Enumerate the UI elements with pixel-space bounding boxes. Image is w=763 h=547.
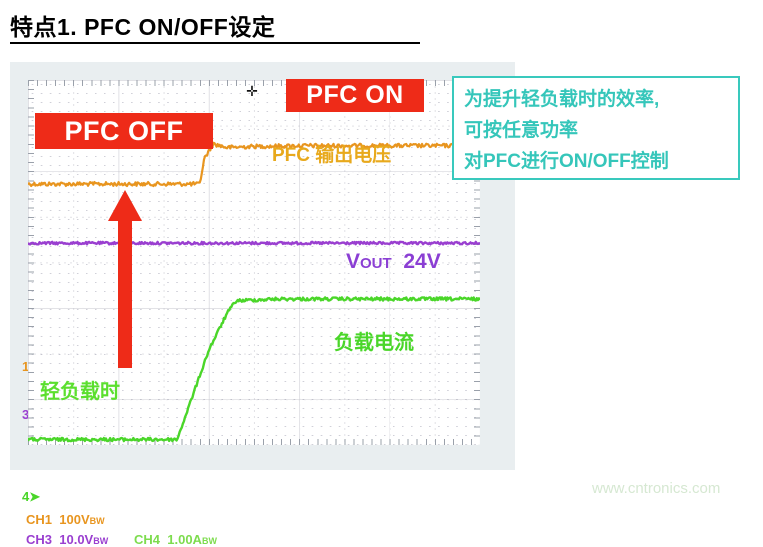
callout-line-2: 可按任意功率 (464, 115, 730, 146)
readout-ch4-scale: 1.00A (167, 532, 202, 547)
watermark: www.cntronics.com (592, 480, 720, 497)
channel-marker-ch4-arrow-icon: ➤ (29, 489, 40, 504)
page-title: 特点1. PFC ON/OFF设定 (10, 8, 430, 42)
badge-pfc-on: PFC ON (286, 79, 424, 112)
badge-pfc-off: PFC OFF (35, 113, 213, 149)
label-pfc-output-voltage: PFC 输出电压 (272, 140, 391, 167)
callout-box: 为提升轻负载时的效率, 可按任意功率 对PFC进行ON/OFF控制 (452, 76, 740, 180)
readout-ch3-bw: BW (93, 536, 108, 546)
readout-ch4-bw: BW (202, 536, 217, 546)
readout-ch1-scale: 100V (59, 512, 89, 527)
trigger-marker-icon: ✛ (246, 85, 258, 97)
label-vout-24v: VOUT 24V (346, 250, 441, 274)
title-underline (10, 42, 420, 44)
readout-ch1-name: CH1 (26, 512, 52, 527)
readout-ch4-name: CH4 (134, 532, 160, 547)
label-vout-value: 24V (403, 250, 440, 273)
label-vout-prefix: V (346, 250, 360, 273)
callout-line-1: 为提升轻负载时的效率, (464, 84, 730, 115)
readout-ch1-bw: BW (90, 516, 105, 526)
callout-line-3: 对PFC进行ON/OFF控制 (464, 146, 730, 177)
channel-marker-ch4: 4➤ (22, 490, 40, 503)
label-load-current: 负载电流 (334, 326, 414, 355)
readout-ch4: CH4 1.00ABW (134, 532, 217, 547)
readout-ch1: CH1 100VBW (26, 512, 105, 527)
readout-ch3-name: CH3 (26, 532, 52, 547)
callout-up-arrow-icon (105, 188, 145, 368)
graticule-ticks-left (28, 80, 34, 445)
readout-ch3: CH3 10.0VBW (26, 532, 108, 547)
readout-ch3-scale: 10.0V (59, 532, 93, 547)
label-vout-subscript: OUT (360, 255, 392, 272)
graticule-ticks-bottom (28, 439, 480, 445)
label-light-load: 轻负载时 (40, 375, 120, 404)
